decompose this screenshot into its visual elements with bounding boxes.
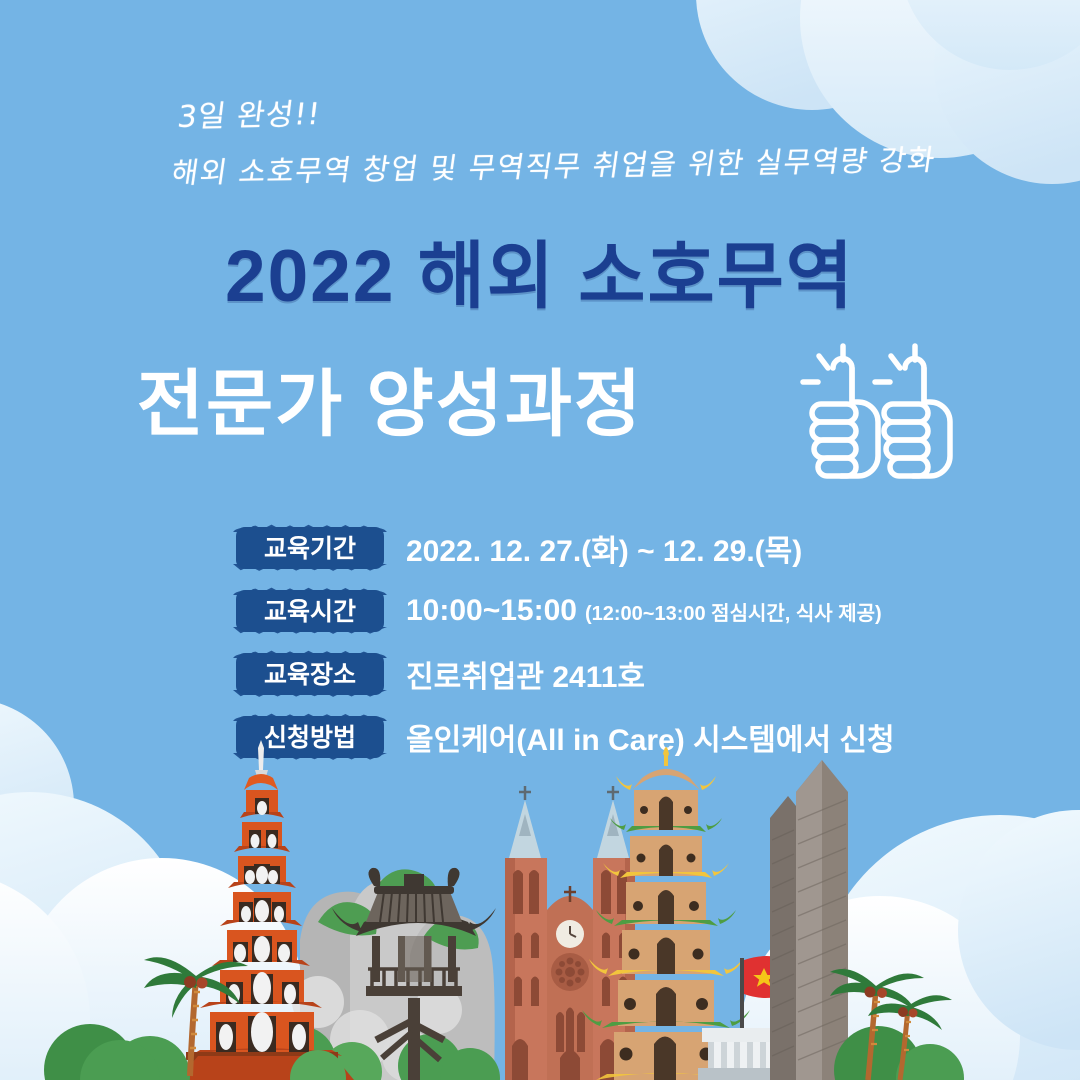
- value-period-text: 2022. 12. 27.(화) ~ 12. 29.(목): [406, 535, 802, 568]
- page-title-line1: 2022 해외 소호무역: [0, 240, 1080, 313]
- value-time: 10:00~15:00(12:00~13:00 점심시간, 식사 제공): [406, 594, 882, 628]
- value-place: 진로취업관 2411호: [406, 652, 645, 696]
- tagline-primary: 3일 완성!!: [175, 89, 323, 136]
- value-time-note: (12:00~13:00 점심시간, 식사 제공): [585, 603, 882, 625]
- value-time-text: 10:00~15:00: [406, 594, 577, 627]
- thumbs-up-icon: [775, 338, 955, 486]
- badge-period: 교육기간: [236, 527, 384, 569]
- poster-canvas: 3일 완성!! 해외 소호무역 창업 및 무역직무 취업을 위한 실무역량 강화…: [0, 0, 1080, 1080]
- badge-place: 교육장소: [236, 653, 384, 695]
- tagline-group: 3일 완성!! 해외 소호무역 창업 및 무역직무 취업을 위한 실무역량 강화: [0, 92, 1080, 136]
- page-title-line2: 전문가 양성과정: [0, 368, 780, 441]
- info-row-place: 교육장소 진로취업관 2411호: [236, 645, 1056, 703]
- value-place-text: 진로취업관 2411호: [406, 661, 645, 694]
- thumbs-up-group: [775, 338, 955, 486]
- info-row-time: 교육시간 10:00~15:00(12:00~13:00 점심시간, 식사 제공…: [236, 582, 1056, 640]
- skyscraper-icon: [770, 760, 848, 1080]
- vietnam-skyline-illustration: [0, 740, 1080, 1080]
- badge-time: 교육시간: [236, 590, 384, 632]
- info-list: 교육기간 2022. 12. 27.(화) ~ 12. 29.(목) 교육시간 …: [236, 519, 1056, 771]
- info-row-period: 교육기간 2022. 12. 27.(화) ~ 12. 29.(목): [236, 519, 1056, 577]
- value-period: 2022. 12. 27.(화) ~ 12. 29.(목): [406, 526, 802, 570]
- palm-tree-right-icon: [830, 969, 964, 1080]
